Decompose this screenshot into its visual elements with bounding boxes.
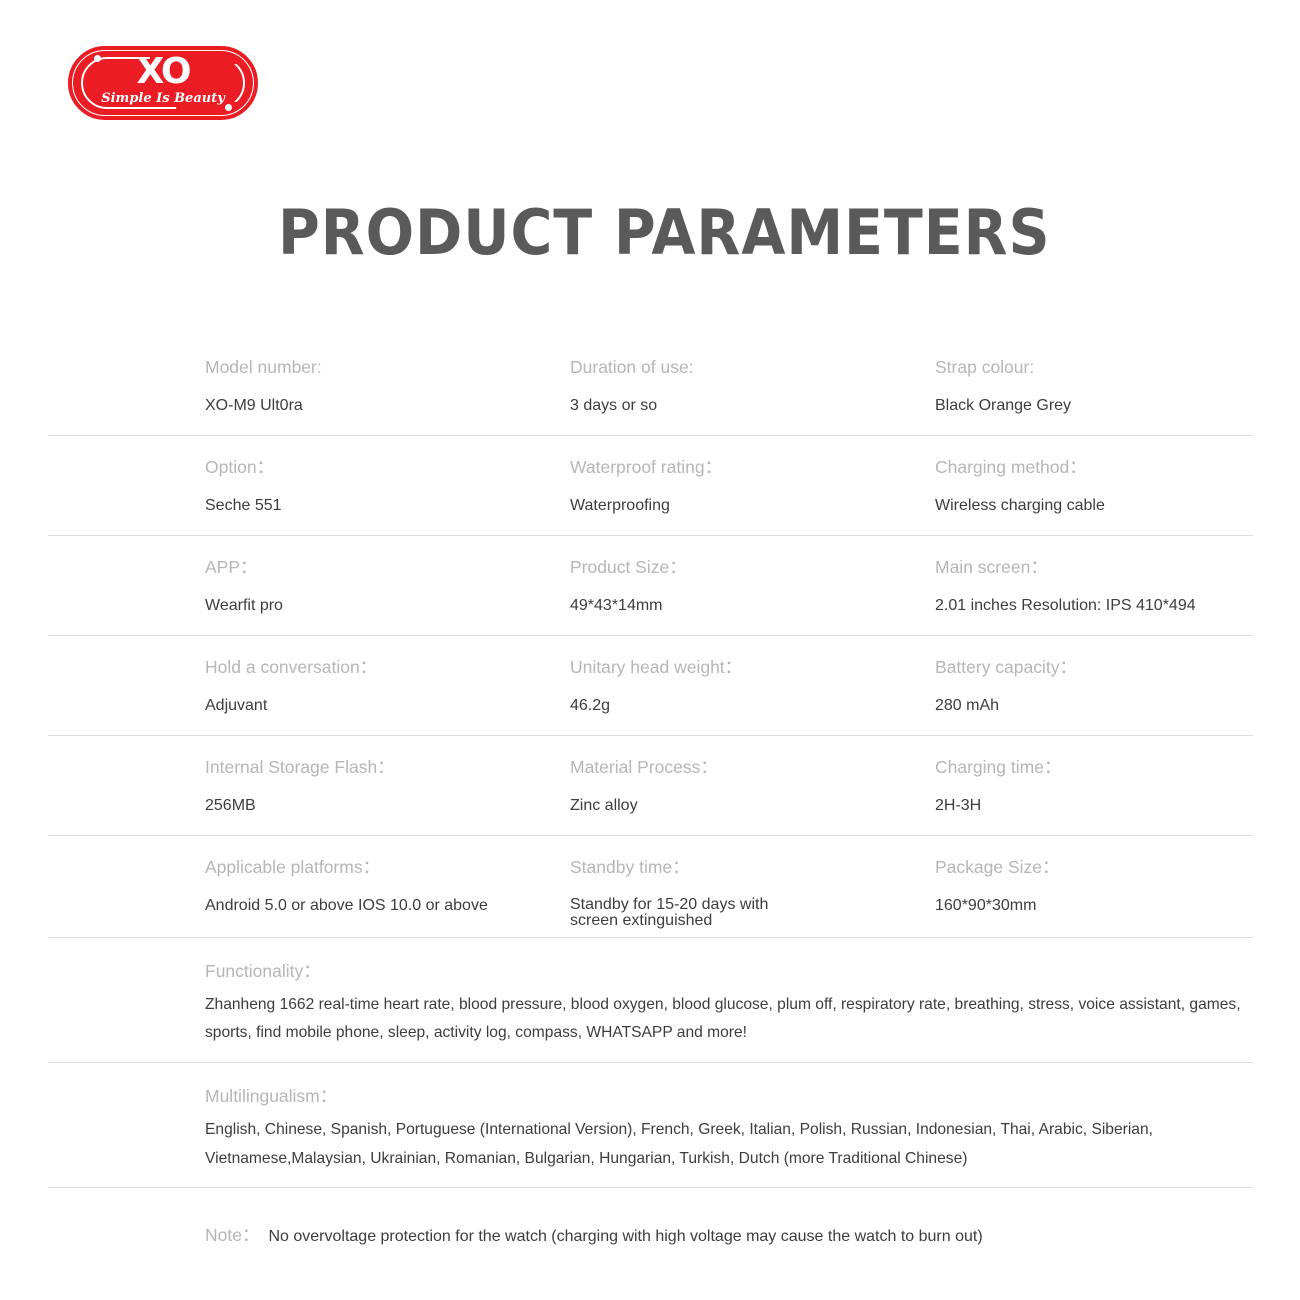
functionality-label: Functionality：: [205, 937, 1248, 981]
spec-cell: Option： Seche 551: [205, 435, 565, 515]
spec-value: Adjuvant: [205, 697, 565, 715]
spec-label: Model number:: [205, 359, 565, 377]
row-divider: [48, 1062, 1253, 1063]
row-divider: [48, 1187, 1253, 1188]
spec-cell: Model number: XO-M9 Ult0ra: [205, 335, 565, 415]
spec-value: Wireless charging cable: [935, 497, 1255, 515]
spec-value: Black Orange Grey: [935, 397, 1255, 415]
spec-value: Android 5.0 or above IOS 10.0 or above: [205, 897, 565, 915]
spec-cell: Strap colour: Black Orange Grey: [935, 335, 1255, 415]
spec-value: Waterproofing: [570, 497, 930, 515]
note-block: Note： No overvoltage protection for the …: [48, 1187, 1253, 1279]
brand-logo: XO Simple Is Beauty: [68, 46, 258, 120]
spec-cell: Charging time： 2H-3H: [935, 735, 1255, 815]
spec-label: Material Process：: [570, 759, 930, 777]
specification-table: Model number: XO-M9 Ult0ra Duration of u…: [48, 335, 1253, 1279]
spec-cell: Applicable platforms： Android 5.0 or abo…: [205, 835, 565, 915]
spec-value: 46.2g: [570, 697, 930, 715]
spec-cell: Internal Storage Flash： 256MB: [205, 735, 565, 815]
multilingualism-value: English, Chinese, Spanish, Portuguese (I…: [205, 1106, 1248, 1188]
spec-value: 3 days or so: [570, 397, 930, 415]
spec-value: 2.01 inches Resolution: IPS 410*494: [935, 597, 1255, 615]
spec-label: Hold a conversation：: [205, 659, 565, 677]
spec-value: Wearfit pro: [205, 597, 565, 615]
logo-tagline: Simple Is Beauty: [68, 92, 258, 105]
table-row: Option： Seche 551 Waterproof rating： Wat…: [48, 435, 1253, 535]
spec-label: Main screen：: [935, 559, 1255, 577]
table-row: Hold a conversation： Adjuvant Unitary he…: [48, 635, 1253, 735]
spec-label: Duration of use:: [570, 359, 930, 377]
spec-cell: Charging method： Wireless charging cable: [935, 435, 1255, 515]
spec-cell: APP： Wearfit pro: [205, 535, 565, 615]
spec-cell: Battery capacity： 280 mAh: [935, 635, 1255, 715]
spec-label: APP：: [205, 559, 565, 577]
spec-value: Zinc alloy: [570, 797, 930, 815]
spec-label: Option：: [205, 459, 565, 477]
page-title: PRODUCT PARAMETERS: [278, 196, 1050, 269]
spec-value: XO-M9 Ult0ra: [205, 397, 565, 415]
spec-value: Standby for 15-20 days with screen extin…: [570, 897, 800, 931]
multilingualism-block: Multilingualism： English, Chinese, Spani…: [48, 1062, 1253, 1187]
spec-value: 49*43*14mm: [570, 597, 930, 615]
note-label: Note：: [205, 1227, 259, 1245]
row-divider: [48, 937, 1253, 938]
spec-value: 160*90*30mm: [935, 897, 1255, 915]
spec-value: 280 mAh: [935, 697, 1255, 715]
functionality-block: Functionality： Zhanheng 1662 real-time h…: [48, 937, 1253, 1062]
spec-label: Product Size：: [570, 559, 930, 577]
spec-cell: Material Process： Zinc alloy: [570, 735, 930, 815]
spec-label: Applicable platforms：: [205, 859, 565, 877]
spec-cell: Unitary head weight： 46.2g: [570, 635, 930, 715]
spec-cell: Hold a conversation： Adjuvant: [205, 635, 565, 715]
multilingualism-label: Multilingualism：: [205, 1062, 1248, 1106]
spec-cell: Waterproof rating： Waterproofing: [570, 435, 930, 515]
spec-cell: Main screen： 2.01 inches Resolution: IPS…: [935, 535, 1255, 615]
spec-value: Seche 551: [205, 497, 565, 515]
spec-label: Charging time：: [935, 759, 1255, 777]
spec-label: Battery capacity：: [935, 659, 1255, 677]
spec-label: Internal Storage Flash：: [205, 759, 565, 777]
spec-cell: Duration of use: 3 days or so: [570, 335, 930, 415]
spec-value: 256MB: [205, 797, 565, 815]
spec-value: 2H-3H: [935, 797, 1255, 815]
table-row: Model number: XO-M9 Ult0ra Duration of u…: [48, 335, 1253, 435]
logo-dot-bottom-right-icon: [225, 104, 232, 111]
spec-label: Package Size：: [935, 859, 1255, 877]
table-row: APP： Wearfit pro Product Size： 49*43*14m…: [48, 535, 1253, 635]
note-text: No overvoltage protection for the watch …: [268, 1229, 982, 1245]
logo-wordmark: XO: [68, 54, 258, 90]
spec-cell: Standby time： Standby for 15-20 days wit…: [570, 835, 930, 930]
spec-cell: Product Size： 49*43*14mm: [570, 535, 930, 615]
spec-label: Unitary head weight：: [570, 659, 930, 677]
spec-label: Standby time：: [570, 859, 930, 877]
table-row: Applicable platforms： Android 5.0 or abo…: [48, 835, 1253, 937]
spec-label: Charging method：: [935, 459, 1255, 477]
table-row: Internal Storage Flash： 256MB Material P…: [48, 735, 1253, 835]
spec-cell: Package Size： 160*90*30mm: [935, 835, 1255, 915]
spec-label: Waterproof rating：: [570, 459, 930, 477]
functionality-value: Zhanheng 1662 real-time heart rate, bloo…: [205, 981, 1248, 1063]
spec-label: Strap colour:: [935, 359, 1255, 377]
